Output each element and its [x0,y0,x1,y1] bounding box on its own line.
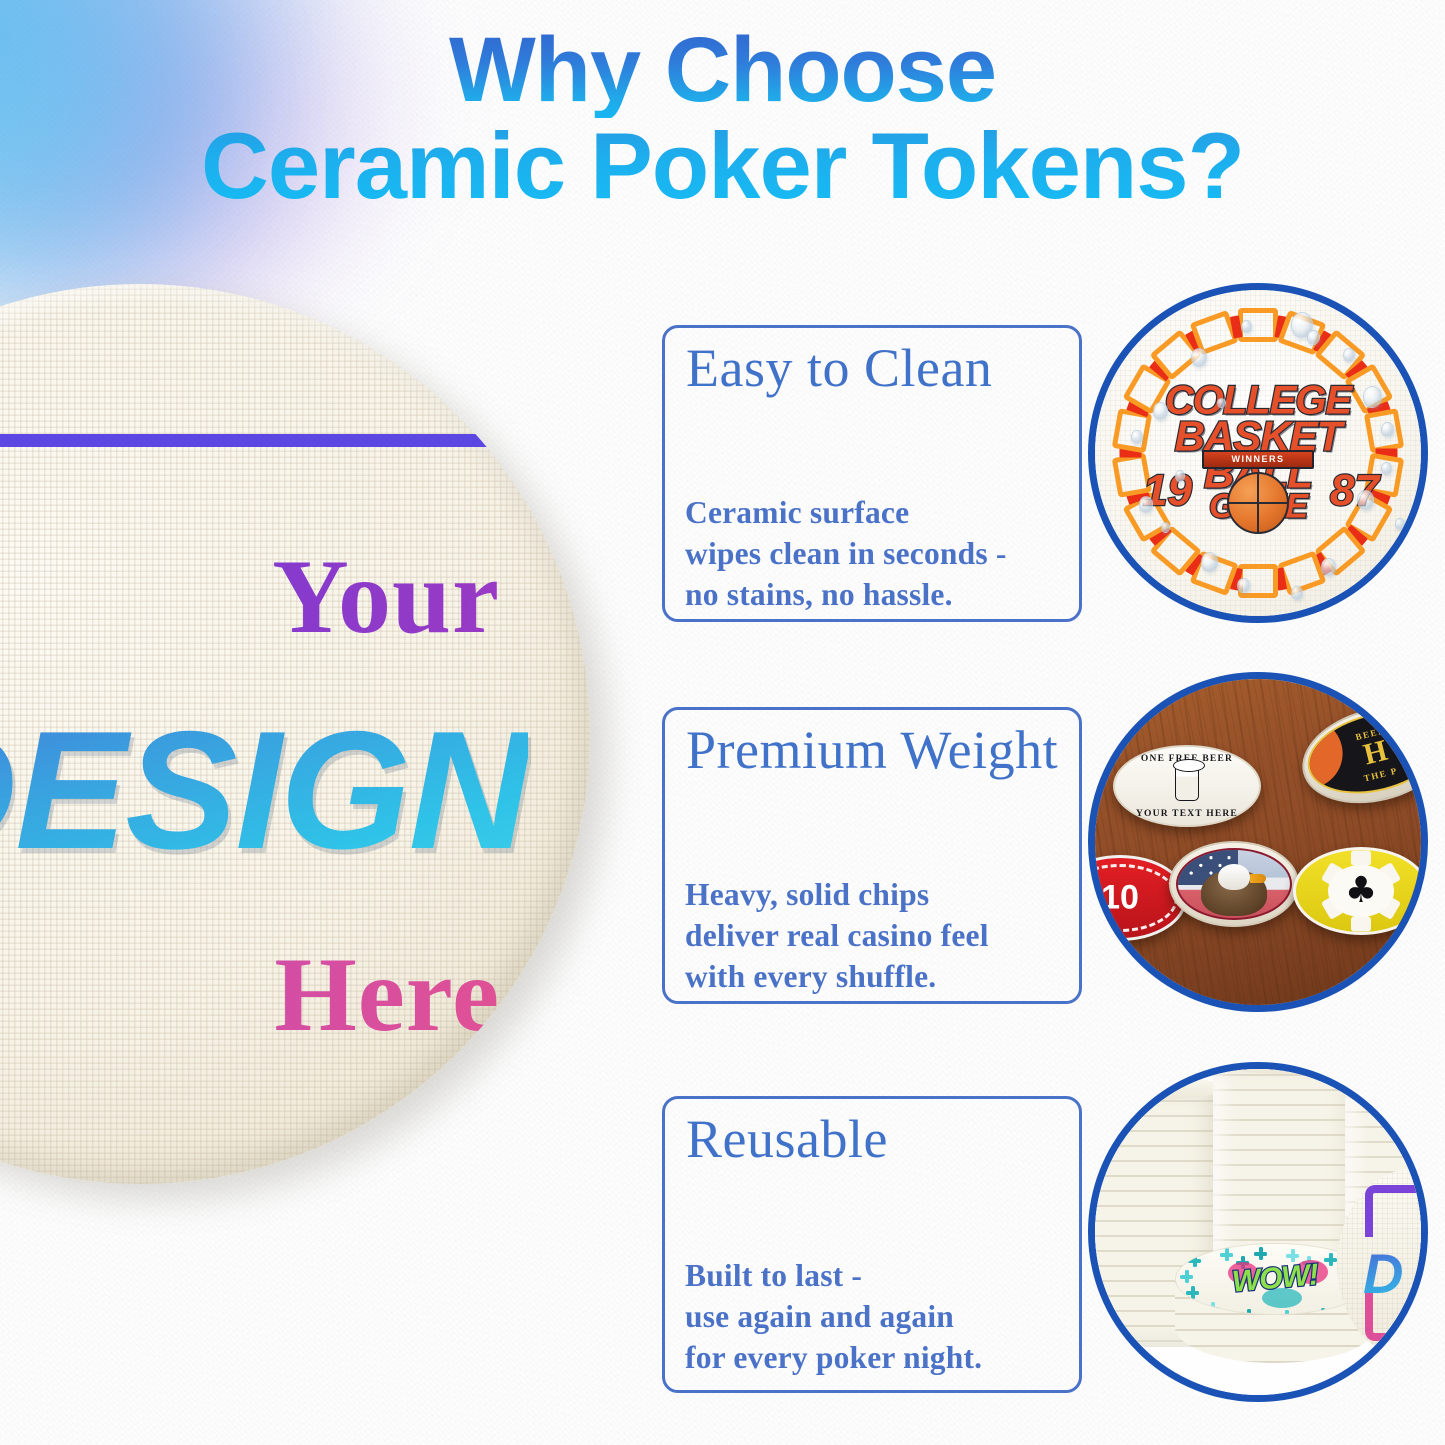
infographic-page: Why Choose Ceramic Poker Tokens? Your DE… [0,0,1445,1445]
edge-token-letter: D [1363,1241,1403,1306]
comic-cross-sparkle [1220,1248,1233,1261]
hero-token-line-2: DESIGN [0,694,528,887]
water-droplet [1175,470,1185,482]
water-droplet [1343,348,1355,362]
water-droplet [1237,578,1250,593]
chip-red-value-label: 10 [1101,879,1139,918]
feature-heading-reusable: Reusable [686,1108,888,1170]
token-year-second-half: 87 [1330,466,1379,516]
water-droplet [1307,330,1320,345]
hero-custom-design-token: Your DESIGN Here [0,284,590,1184]
page-title-line-1: Why Choose [0,24,1445,118]
comic-cross-sparkle [1280,1310,1293,1315]
comic-cross-sparkle [1188,1254,1201,1267]
basketball-icon [1227,472,1289,534]
beer-glass-icon [1175,767,1199,801]
comic-cross-sparkle [1180,1270,1193,1283]
feature-heading-easy-to-clean: Easy to Clean [686,337,992,399]
water-droplet [1321,558,1336,576]
page-title-line-2: Ceramic Poker Tokens? [0,118,1445,214]
water-droplet [1241,320,1252,333]
comic-cross-sparkle [1206,1302,1219,1315]
wow-token-label: WOW! [1231,1258,1320,1299]
hero-token-line-1: Your [0,536,500,658]
hero-token-line-3: Here [0,934,500,1056]
comic-cross-sparkle [1254,1247,1267,1260]
token-winners-banner: WINNERS [1202,450,1314,469]
water-droplet [1217,398,1226,408]
water-droplet [1291,586,1303,600]
eagle-head [1218,864,1250,890]
water-droplet [1201,552,1218,572]
chip-edge-spot [1351,917,1371,932]
comic-cross-sparkle [1186,1286,1199,1299]
club-suit-icon: ♣ [1345,873,1377,909]
photo-basketball-token: COLLEGE BASKET BALL GAME WINNERS 19 87 [1088,283,1428,623]
hero-token-face: Your DESIGN Here [0,284,590,1184]
chip-one-free-beer: ONE FREE BEER YOUR TEXT HERE [1113,745,1261,827]
chip-edge-spot [1351,851,1371,866]
water-droplet [1363,386,1382,408]
comic-cross-sparkle [1324,1253,1337,1266]
photo-poker-chips-table: ONE FREE BEER YOUR TEXT HERE BEER H THE … [1088,672,1428,1012]
water-droplet [1381,422,1394,437]
water-droplet [1357,490,1374,510]
chip-yellow-club: ♣ [1293,847,1428,935]
page-title: Why Choose Ceramic Poker Tokens? [0,24,1445,214]
water-droplet [1381,462,1392,475]
comic-cross-sparkle [1316,1308,1329,1315]
chip-dark-monogram: H [1360,733,1391,772]
chip-yellow-center: ♣ [1328,865,1394,917]
water-droplet [1191,348,1207,367]
water-droplet [1139,496,1153,513]
chip-eagle-flag [1169,841,1299,927]
water-droplet [1395,518,1405,530]
hero-frame-bottom-bracket [0,1120,590,1184]
water-droplet [1153,402,1168,420]
feature-heading-premium-weight: Premium Weight [686,719,1058,781]
eagle-flag-artwork [1176,848,1292,920]
water-droplet [1161,522,1170,533]
chip-text-bottom: YOUR TEXT HERE [1115,809,1259,819]
edge-token-top-bracket [1365,1185,1425,1237]
water-droplet [1131,430,1143,444]
eagle-beak [1250,874,1266,883]
photo-stacked-blank-tokens: D WOW! [1088,1062,1428,1402]
